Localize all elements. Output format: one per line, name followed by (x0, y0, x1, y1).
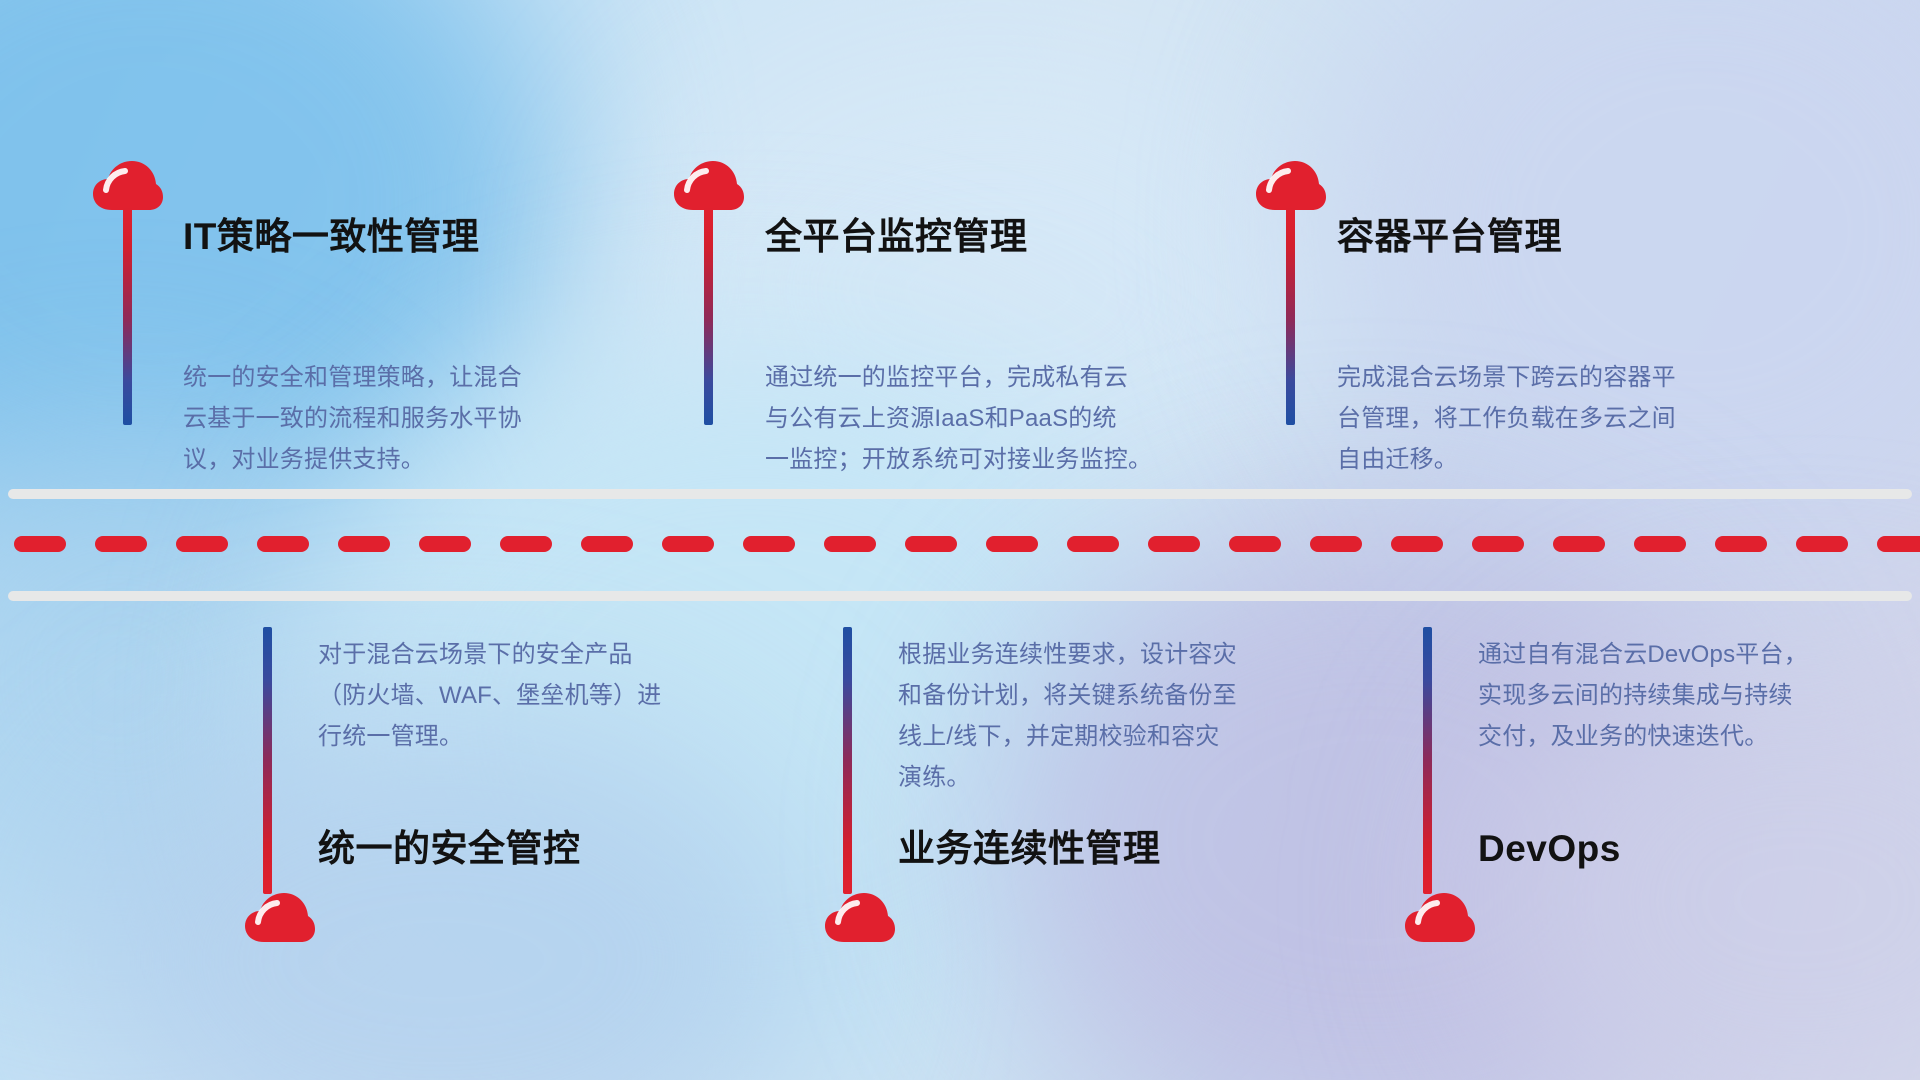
dash-segment (986, 536, 1038, 552)
card-body: 完成混合云场景下跨云的容器平 台管理，将工作负载在多云之间 自由迁移。 (1337, 357, 1777, 480)
cloud-icon (824, 892, 896, 944)
red-dashed-divider (0, 536, 1920, 552)
dash-segment (581, 536, 633, 552)
dash-segment (1229, 536, 1281, 552)
dash-segment (824, 536, 876, 552)
dash-segment (338, 536, 390, 552)
pin-stem (1423, 627, 1432, 894)
cloud-icon (92, 160, 164, 212)
background-blob (60, 700, 820, 1080)
dash-segment (905, 536, 957, 552)
cloud-icon (673, 160, 745, 212)
pin-stem (704, 207, 713, 425)
solid-rule-bottom (8, 591, 1912, 601)
cloud-icon (1404, 892, 1476, 944)
solid-rule-top (8, 489, 1912, 499)
infographic-canvas: IT策略一致性管理 统一的安全和管理策略，让混合 云基于一致的流程和服务水平协 … (0, 0, 1920, 1080)
dash-segment (1067, 536, 1119, 552)
card-title: IT策略一致性管理 (183, 215, 479, 259)
card-body: 统一的安全和管理策略，让混合 云基于一致的流程和服务水平协 议，对业务提供支持。 (183, 357, 603, 480)
pin-stem (1286, 207, 1295, 425)
card-title: DevOps (1478, 827, 1621, 871)
background-blob (980, 520, 1760, 1080)
pin-stem (843, 627, 852, 894)
dash-segment (1148, 536, 1200, 552)
pin-full-platform-monitoring (673, 160, 745, 212)
dash-segment (662, 536, 714, 552)
pin-stem (263, 627, 272, 894)
pin-stem (123, 207, 132, 425)
dash-segment (419, 536, 471, 552)
dash-segment (14, 536, 66, 552)
pin-container-platform (1255, 160, 1327, 212)
dash-segment (1310, 536, 1362, 552)
card-body: 根据业务连续性要求，设计容灾 和备份计划，将关键系统备份至 线上/线下，并定期校… (898, 634, 1328, 798)
dash-segment (743, 536, 795, 552)
card-title: 容器平台管理 (1337, 215, 1562, 259)
dash-segment (95, 536, 147, 552)
dash-segment (1391, 536, 1443, 552)
card-title: 统一的安全管控 (318, 827, 581, 871)
dash-segment (257, 536, 309, 552)
card-body: 通过自有混合云DevOps平台， 实现多云间的持续集成与持续 交付，及业务的快速… (1478, 634, 1898, 757)
cloud-icon (244, 892, 316, 944)
dash-segment (1715, 536, 1767, 552)
card-body: 通过统一的监控平台，完成私有云 与公有云上资源IaaS和PaaS的统 一监控；开… (765, 357, 1205, 480)
cloud-icon (1255, 160, 1327, 212)
dash-segment (1472, 536, 1524, 552)
dash-segment (176, 536, 228, 552)
dash-segment (1553, 536, 1605, 552)
dash-segment (1877, 536, 1920, 552)
dash-segment (1796, 536, 1848, 552)
dash-segment (500, 536, 552, 552)
dash-segment (1634, 536, 1686, 552)
pin-it-policy-consistency (92, 160, 164, 212)
card-title: 业务连续性管理 (898, 827, 1161, 871)
card-title: 全平台监控管理 (765, 215, 1028, 259)
card-body: 对于混合云场景下的安全产品 （防火墙、WAF、堡垒机等）进 行统一管理。 (318, 634, 738, 757)
